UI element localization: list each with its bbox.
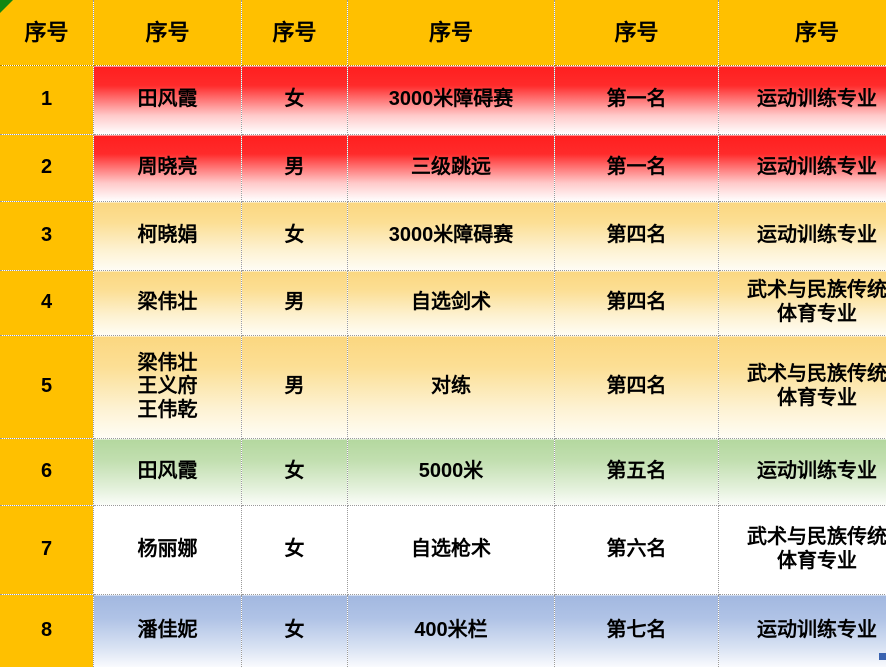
table-row: 5 梁伟壮 王义府 王伟乾 男 对练 第四名 武术与民族传统 体育专业 (0, 336, 886, 439)
cell-index[interactable]: 4 (0, 271, 94, 336)
cell-name[interactable]: 田风霞 (94, 66, 242, 135)
cell-major[interactable]: 武术与民族传统 体育专业 (719, 336, 886, 439)
cell-major[interactable]: 运动训练专业 (719, 66, 886, 135)
cell-gender[interactable]: 男 (242, 271, 348, 336)
cell-index[interactable]: 3 (0, 202, 94, 271)
cell-gender[interactable]: 男 (242, 135, 348, 202)
cell-index[interactable]: 5 (0, 336, 94, 439)
cell-rank[interactable]: 第五名 (555, 439, 719, 506)
cell-index[interactable]: 6 (0, 439, 94, 506)
cell-gender[interactable]: 男 (242, 336, 348, 439)
cell-major[interactable]: 运动训练专业 (719, 439, 886, 506)
cell-gender[interactable]: 女 (242, 439, 348, 506)
column-header-major[interactable]: 序号 (719, 0, 886, 66)
cell-name[interactable]: 潘佳妮 (94, 595, 242, 667)
results-table: 序号 序号 序号 序号 序号 序号 1 田风霞 女 3000米障碍赛 第一名 运… (0, 0, 886, 667)
cell-gender[interactable]: 女 (242, 66, 348, 135)
cell-major[interactable]: 运动训练专业 (719, 595, 886, 667)
cell-index[interactable]: 8 (0, 595, 94, 667)
cell-event[interactable]: 自选剑术 (348, 271, 555, 336)
cell-major[interactable]: 运动训练专业 (719, 202, 886, 271)
table-row: 4 梁伟壮 男 自选剑术 第四名 武术与民族传统 体育专业 (0, 271, 886, 336)
cell-major[interactable]: 武术与民族传统 体育专业 (719, 506, 886, 595)
cell-event[interactable]: 400米栏 (348, 595, 555, 667)
table-header-row: 序号 序号 序号 序号 序号 序号 (0, 0, 886, 66)
table-row: 1 田风霞 女 3000米障碍赛 第一名 运动训练专业 (0, 66, 886, 135)
table-row: 3 柯晓娟 女 3000米障碍赛 第四名 运动训练专业 (0, 202, 886, 271)
cell-rank[interactable]: 第六名 (555, 506, 719, 595)
cell-event[interactable]: 对练 (348, 336, 555, 439)
cell-index[interactable]: 2 (0, 135, 94, 202)
cell-rank[interactable]: 第七名 (555, 595, 719, 667)
spreadsheet-canvas: 序号 序号 序号 序号 序号 序号 1 田风霞 女 3000米障碍赛 第一名 运… (0, 0, 886, 660)
cell-name[interactable]: 梁伟壮 王义府 王伟乾 (94, 336, 242, 439)
cell-name[interactable]: 田风霞 (94, 439, 242, 506)
table-row: 7 杨丽娜 女 自选枪术 第六名 武术与民族传统 体育专业 (0, 506, 886, 595)
cell-gender[interactable]: 女 (242, 202, 348, 271)
column-header-event[interactable]: 序号 (348, 0, 555, 66)
cell-event[interactable]: 5000米 (348, 439, 555, 506)
cell-event[interactable]: 3000米障碍赛 (348, 202, 555, 271)
cell-major[interactable]: 运动训练专业 (719, 135, 886, 202)
cell-name[interactable]: 杨丽娜 (94, 506, 242, 595)
cell-rank[interactable]: 第四名 (555, 271, 719, 336)
cell-rank[interactable]: 第四名 (555, 336, 719, 439)
cell-index[interactable]: 7 (0, 506, 94, 595)
cell-event[interactable]: 自选枪术 (348, 506, 555, 595)
column-header-index[interactable]: 序号 (0, 0, 94, 66)
cell-name[interactable]: 梁伟壮 (94, 271, 242, 336)
cell-gender[interactable]: 女 (242, 595, 348, 667)
cell-event[interactable]: 三级跳远 (348, 135, 555, 202)
cell-name[interactable]: 柯晓娟 (94, 202, 242, 271)
table-row: 2 周晓亮 男 三级跳远 第一名 运动训练专业 (0, 135, 886, 202)
column-header-rank[interactable]: 序号 (555, 0, 719, 66)
column-header-gender[interactable]: 序号 (242, 0, 348, 66)
cell-name[interactable]: 周晓亮 (94, 135, 242, 202)
cell-rank[interactable]: 第四名 (555, 202, 719, 271)
cell-gender[interactable]: 女 (242, 506, 348, 595)
column-header-name[interactable]: 序号 (94, 0, 242, 66)
cell-event[interactable]: 3000米障碍赛 (348, 66, 555, 135)
cell-rank[interactable]: 第一名 (555, 66, 719, 135)
table-row: 8 潘佳妮 女 400米栏 第七名 运动训练专业 (0, 595, 886, 667)
cell-index[interactable]: 1 (0, 66, 94, 135)
table-row: 6 田风霞 女 5000米 第五名 运动训练专业 (0, 439, 886, 506)
cell-rank[interactable]: 第一名 (555, 135, 719, 202)
cell-major[interactable]: 武术与民族传统 体育专业 (719, 271, 886, 336)
